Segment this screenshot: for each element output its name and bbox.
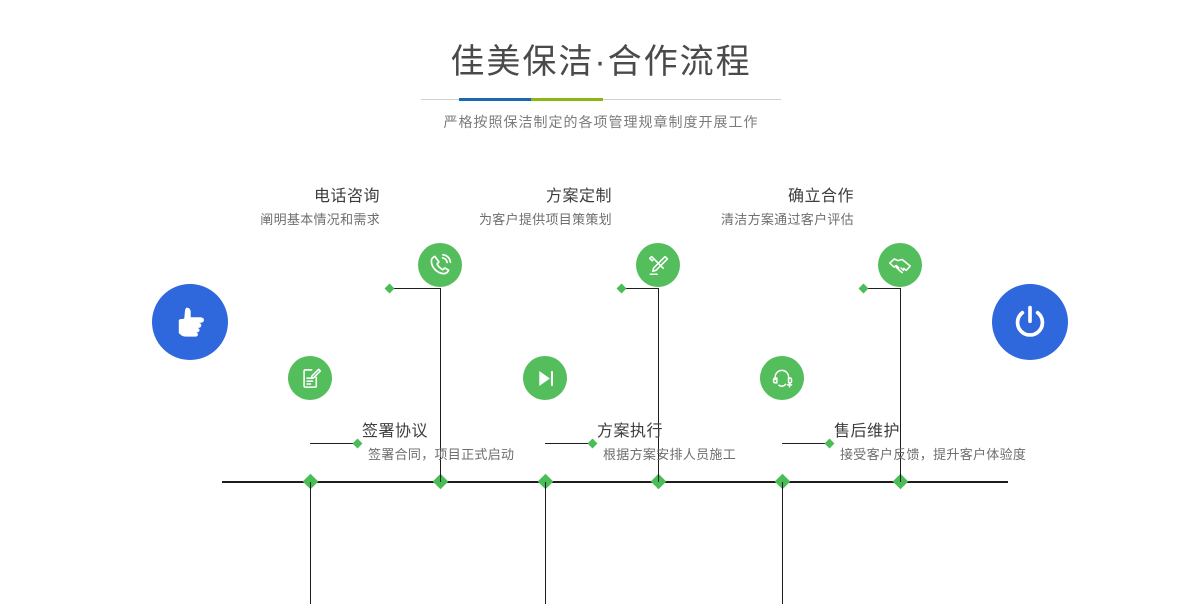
- connector-elbow: [782, 443, 830, 444]
- step-icon-6[interactable]: [760, 356, 804, 400]
- step-icon-2[interactable]: [288, 356, 332, 400]
- connector-stem: [310, 482, 311, 604]
- flow-infographic: 佳美保洁·合作流程 严格按照保洁制定的各项管理规章制度开展工作: [0, 0, 1202, 502]
- connector-stem: [782, 482, 783, 604]
- divider-blue-segment: [459, 98, 531, 101]
- timeline-start-node[interactable]: [152, 284, 228, 360]
- pencil-icon: [646, 253, 671, 278]
- connector-elbow: [545, 443, 593, 444]
- step-icon-3[interactable]: [636, 243, 680, 287]
- page-subtitle: 严格按照保洁制定的各项管理规章制度开展工作: [0, 112, 1202, 132]
- header: 佳美保洁·合作流程 严格按照保洁制定的各项管理规章制度开展工作: [0, 0, 1202, 132]
- connector-elbow: [622, 288, 659, 289]
- page-title: 佳美保洁·合作流程: [0, 40, 1202, 84]
- label-bullet: [353, 439, 363, 449]
- connector-elbow: [864, 288, 901, 289]
- step-title: 售后维护: [834, 422, 1174, 442]
- play-forward-icon: [533, 366, 558, 391]
- connector-elbow: [310, 443, 358, 444]
- step-icon-4[interactable]: [523, 356, 567, 400]
- label-bullet: [617, 284, 627, 294]
- step-icon-1[interactable]: [418, 243, 462, 287]
- connector-stem: [545, 482, 546, 604]
- step-desc: 清洁方案通过客户评估: [548, 211, 854, 229]
- step-label-5: 确立合作 清洁方案通过客户评估: [548, 187, 854, 229]
- power-icon: [1009, 301, 1051, 343]
- pointing-hand-icon: [169, 301, 211, 343]
- label-bullet: [859, 284, 869, 294]
- timeline-end-node[interactable]: [992, 284, 1068, 360]
- title-divider: [421, 98, 781, 101]
- timeline: 电话咨询 阐明基本情况和需求 签署协议 签署合同，项目正式启动: [0, 160, 1202, 502]
- step-title: 确立合作: [548, 187, 854, 207]
- divider-green-segment: [531, 98, 603, 101]
- step-icon-5[interactable]: [878, 243, 922, 287]
- step-desc: 接受客户反馈，提升客户体验度: [840, 446, 1174, 464]
- label-bullet: [385, 284, 395, 294]
- phone-call-icon: [427, 252, 453, 278]
- customer-support-icon: [770, 366, 795, 391]
- timeline-axis: [222, 481, 1008, 483]
- connector-elbow: [390, 288, 441, 289]
- document-edit-icon: [298, 366, 323, 391]
- handshake-icon: [887, 252, 913, 278]
- step-label-6: 售后维护 接受客户反馈，提升客户体验度: [834, 422, 1174, 464]
